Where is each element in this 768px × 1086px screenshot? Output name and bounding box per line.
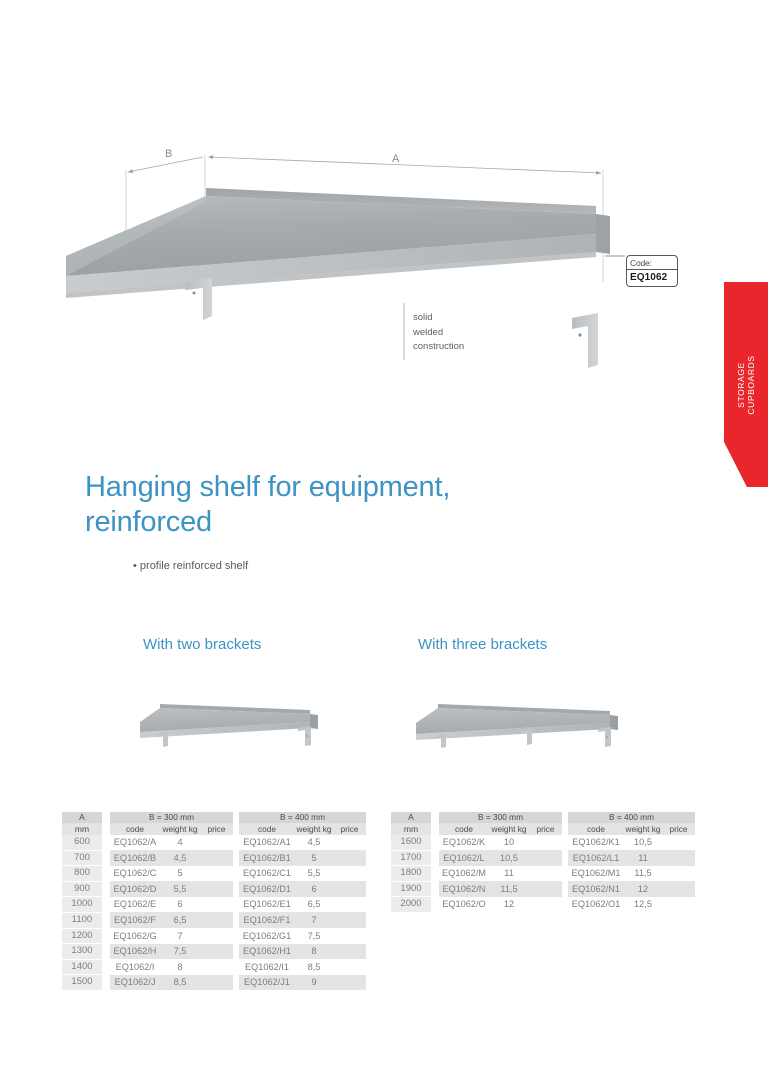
cell-b400-code: EQ1062/N1	[568, 881, 624, 897]
header-group-b300: B = 300 mm	[110, 812, 233, 823]
section-tab-storage-cupboards[interactable]: STORAGE CUPBOARDS	[724, 282, 768, 487]
table-row: 1600EQ1062/K10EQ1062/K110,5	[391, 835, 695, 850]
cell-a-dimension: 800	[62, 866, 102, 882]
cell-b300-weight: 10,5	[489, 850, 529, 866]
header-a-unit: mm	[62, 823, 102, 835]
cell-a-dimension: 1400	[62, 959, 102, 975]
dimension-label-b: B	[165, 148, 172, 160]
cell-a-dimension: 1300	[62, 944, 102, 960]
cell-b300-code: EQ1062/M	[439, 866, 489, 882]
cell-b300-code: EQ1062/K	[439, 835, 489, 850]
cell-b300-code: EQ1062/I	[110, 959, 160, 975]
hero-illustration	[0, 130, 720, 380]
cell-b400-weight: 4,5	[295, 835, 333, 850]
cell-b300-code: EQ1062/D	[110, 881, 160, 897]
section-tab-text: STORAGE CUPBOARDS	[736, 355, 756, 414]
cell-spacer	[102, 959, 110, 975]
header-group-b400: B = 400 mm	[239, 812, 366, 823]
cell-b400-code: EQ1062/A1	[239, 835, 295, 850]
cell-b400-price	[662, 850, 695, 866]
callout-line-1: solid	[413, 311, 464, 326]
cell-b400-price	[333, 866, 366, 882]
cell-b300-code: EQ1062/B	[110, 850, 160, 866]
cell-b400-code: EQ1062/K1	[568, 835, 624, 850]
cell-a-dimension: 900	[62, 881, 102, 897]
cell-b300-price	[200, 912, 233, 928]
page-title: Hanging shelf for equipment, reinforced	[85, 470, 605, 540]
table-row: 1100EQ1062/F6,5EQ1062/F17	[62, 912, 366, 928]
cell-b400-code: EQ1062/I1	[239, 959, 295, 975]
table-body-left: 600EQ1062/A4EQ1062/A14,5700EQ1062/B4,5EQ…	[62, 835, 366, 990]
table-header-group-row: A B = 300 mm B = 400 mm	[391, 812, 695, 823]
code-label: Code:	[627, 256, 677, 268]
header-b400-code: code	[568, 823, 624, 835]
cell-b400-weight: 6,5	[295, 897, 333, 913]
cell-a-dimension: 1200	[62, 928, 102, 944]
dimension-label-a: A	[392, 153, 399, 165]
callout-line-2: welded	[413, 326, 464, 341]
spec-table-left: A B = 300 mm B = 400 mm mm code weight k…	[62, 812, 366, 991]
feature-list: • profile reinforced shelf	[133, 558, 248, 574]
cell-a-dimension: 1000	[62, 897, 102, 913]
cell-b300-price	[529, 897, 562, 913]
cell-a-dimension: 1600	[391, 835, 431, 850]
cell-b400-weight: 7,5	[295, 928, 333, 944]
cell-a-dimension: 1100	[62, 912, 102, 928]
cell-b400-code: EQ1062/L1	[568, 850, 624, 866]
cell-spacer	[102, 944, 110, 960]
cell-b300-code: EQ1062/E	[110, 897, 160, 913]
header-b400-price: price	[662, 823, 695, 835]
cell-b400-code: EQ1062/O1	[568, 897, 624, 913]
product-code-box: Code: EQ1062	[626, 255, 678, 287]
cell-spacer	[431, 866, 439, 882]
cell-b300-weight: 10	[489, 835, 529, 850]
cell-b400-price	[662, 835, 695, 850]
cell-spacer	[102, 975, 110, 991]
table-row: 1800EQ1062/M11EQ1062/M111,5	[391, 866, 695, 882]
solid-welded-callout: solid welded construction	[413, 311, 464, 355]
cell-b300-price	[529, 835, 562, 850]
header-b300-code: code	[110, 823, 160, 835]
cell-b300-weight: 4,5	[160, 850, 200, 866]
cell-a-dimension: 600	[62, 835, 102, 850]
header-b300-price: price	[529, 823, 562, 835]
cell-a-dimension: 700	[62, 850, 102, 866]
cell-spacer	[431, 835, 439, 850]
section-tab-line-1: STORAGE	[736, 355, 746, 414]
cell-b400-price	[333, 928, 366, 944]
cell-b300-price	[200, 959, 233, 975]
cell-b400-price	[333, 881, 366, 897]
catalog-page: B A solid welded construction Code: EQ10…	[0, 0, 768, 1086]
cell-b300-price	[200, 866, 233, 882]
callout-line-3: construction	[413, 340, 464, 355]
cell-b400-price	[662, 881, 695, 897]
cell-spacer	[102, 897, 110, 913]
table-row: 900EQ1062/D5,5EQ1062/D16	[62, 881, 366, 897]
table-row: 1000EQ1062/E6EQ1062/E16,5	[62, 897, 366, 913]
cell-b300-code: EQ1062/O	[439, 897, 489, 913]
cell-b300-code: EQ1062/J	[110, 975, 160, 991]
header-b300-code: code	[439, 823, 489, 835]
cell-b300-weight: 6,5	[160, 912, 200, 928]
cell-b300-weight: 6	[160, 897, 200, 913]
header-a-unit: mm	[391, 823, 431, 835]
cell-b300-code: EQ1062/G	[110, 928, 160, 944]
cell-spacer	[431, 897, 439, 913]
section-tab-line-2: CUPBOARDS	[746, 355, 756, 414]
header-b400-price: price	[333, 823, 366, 835]
cell-b300-weight: 7	[160, 928, 200, 944]
cell-b400-weight: 5,5	[295, 866, 333, 882]
table-row: 1300EQ1062/H7,5EQ1062/H18	[62, 944, 366, 960]
cell-b400-price	[333, 850, 366, 866]
cell-b400-code: EQ1062/C1	[239, 866, 295, 882]
product-image-three-brackets	[414, 688, 634, 754]
cell-spacer	[431, 881, 439, 897]
cell-b400-code: EQ1062/J1	[239, 975, 295, 991]
cell-b400-weight: 12	[624, 881, 662, 897]
cell-b400-weight: 11	[624, 850, 662, 866]
cell-b300-price	[200, 897, 233, 913]
cell-a-dimension: 1800	[391, 866, 431, 882]
cell-a-dimension: 1900	[391, 881, 431, 897]
cell-a-dimension: 1700	[391, 850, 431, 866]
table-row: 1200EQ1062/G7EQ1062/G17,5	[62, 928, 366, 944]
cell-spacer	[102, 881, 110, 897]
cell-b300-price	[200, 850, 233, 866]
cell-spacer	[102, 850, 110, 866]
cell-b300-weight: 5,5	[160, 881, 200, 897]
header-b400-weight: weight kg	[295, 823, 333, 835]
cell-b300-price	[200, 881, 233, 897]
cell-b400-price	[333, 897, 366, 913]
cell-b400-weight: 8,5	[295, 959, 333, 975]
cell-spacer	[102, 928, 110, 944]
cell-spacer	[102, 866, 110, 882]
cell-b300-weight: 7,5	[160, 944, 200, 960]
cell-b300-weight: 12	[489, 897, 529, 913]
cell-b300-weight: 11	[489, 866, 529, 882]
cell-b400-code: EQ1062/E1	[239, 897, 295, 913]
cell-b400-code: EQ1062/G1	[239, 928, 295, 944]
cell-b400-price	[662, 897, 695, 913]
header-group-b300: B = 300 mm	[439, 812, 562, 823]
cell-b400-weight: 7	[295, 912, 333, 928]
cell-b400-code: EQ1062/M1	[568, 866, 624, 882]
cell-b300-price	[200, 928, 233, 944]
cell-b400-weight: 8	[295, 944, 333, 960]
spec-table-right: A B = 300 mm B = 400 mm mm code weight k…	[391, 812, 695, 913]
table-row: 700EQ1062/B4,5EQ1062/B15	[62, 850, 366, 866]
cell-b400-weight: 9	[295, 975, 333, 991]
cell-b400-price	[333, 912, 366, 928]
cell-b300-weight: 11,5	[489, 881, 529, 897]
feature-list-item: • profile reinforced shelf	[133, 558, 248, 574]
cell-b300-code: EQ1062/A	[110, 835, 160, 850]
table-row: 2000EQ1062/O12EQ1062/O112,5	[391, 897, 695, 913]
cell-b300-weight: 4	[160, 835, 200, 850]
cell-b400-price	[333, 959, 366, 975]
table-row: 1900EQ1062/N11,5EQ1062/N112	[391, 881, 695, 897]
table-row: 1700EQ1062/L10,5EQ1062/L111	[391, 850, 695, 866]
cell-b400-price	[662, 866, 695, 882]
cell-b400-weight: 12,5	[624, 897, 662, 913]
cell-a-dimension: 1500	[62, 975, 102, 991]
cell-b300-code: EQ1062/H	[110, 944, 160, 960]
cell-b400-price	[333, 944, 366, 960]
cell-b400-weight: 6	[295, 881, 333, 897]
cell-b300-code: EQ1062/C	[110, 866, 160, 882]
header-b300-weight: weight kg	[160, 823, 200, 835]
cell-b300-code: EQ1062/N	[439, 881, 489, 897]
product-image-two-brackets	[138, 688, 338, 754]
cell-b300-price	[200, 975, 233, 991]
header-group-b400: B = 400 mm	[568, 812, 695, 823]
page-title-line-2: reinforced	[85, 505, 605, 540]
hero-diagram: B A	[0, 130, 720, 380]
cell-b400-price	[333, 835, 366, 850]
cell-b300-weight: 5	[160, 866, 200, 882]
variant-heading-two-brackets: With two brackets	[143, 636, 261, 653]
cell-b400-code: EQ1062/F1	[239, 912, 295, 928]
table-row: 800EQ1062/C5EQ1062/C15,5	[62, 866, 366, 882]
cell-b300-code: EQ1062/L	[439, 850, 489, 866]
header-b300-weight: weight kg	[489, 823, 529, 835]
header-a: A	[391, 812, 431, 823]
header-a: A	[62, 812, 102, 823]
cell-b400-weight: 11,5	[624, 866, 662, 882]
cell-b300-code: EQ1062/F	[110, 912, 160, 928]
cell-b300-price	[200, 835, 233, 850]
header-spacer	[431, 812, 439, 835]
cell-b300-price	[529, 881, 562, 897]
cell-b300-weight: 8,5	[160, 975, 200, 991]
table-row: 600EQ1062/A4EQ1062/A14,5	[62, 835, 366, 850]
cell-spacer	[102, 912, 110, 928]
page-title-line-1: Hanging shelf for equipment,	[85, 470, 605, 505]
header-b400-weight: weight kg	[624, 823, 662, 835]
cell-spacer	[102, 835, 110, 850]
cell-b300-price	[200, 944, 233, 960]
cell-b400-weight: 10,5	[624, 835, 662, 850]
header-b300-price: price	[200, 823, 233, 835]
cell-a-dimension: 2000	[391, 897, 431, 913]
table-body-right: 1600EQ1062/K10EQ1062/K110,51700EQ1062/L1…	[391, 835, 695, 912]
table-row: 1400EQ1062/I8EQ1062/I18,5	[62, 959, 366, 975]
cell-b400-code: EQ1062/B1	[239, 850, 295, 866]
header-spacer	[102, 812, 110, 835]
cell-spacer	[431, 850, 439, 866]
header-b400-code: code	[239, 823, 295, 835]
cell-b400-code: EQ1062/H1	[239, 944, 295, 960]
code-value: EQ1062	[627, 270, 677, 283]
table-header-group-row: A B = 300 mm B = 400 mm	[62, 812, 366, 823]
table-row: 1500EQ1062/J8,5EQ1062/J19	[62, 975, 366, 991]
cell-b300-weight: 8	[160, 959, 200, 975]
cell-b400-price	[333, 975, 366, 991]
cell-b300-price	[529, 850, 562, 866]
cell-b300-price	[529, 866, 562, 882]
cell-b400-code: EQ1062/D1	[239, 881, 295, 897]
variant-heading-three-brackets: With three brackets	[418, 636, 547, 653]
cell-b400-weight: 5	[295, 850, 333, 866]
